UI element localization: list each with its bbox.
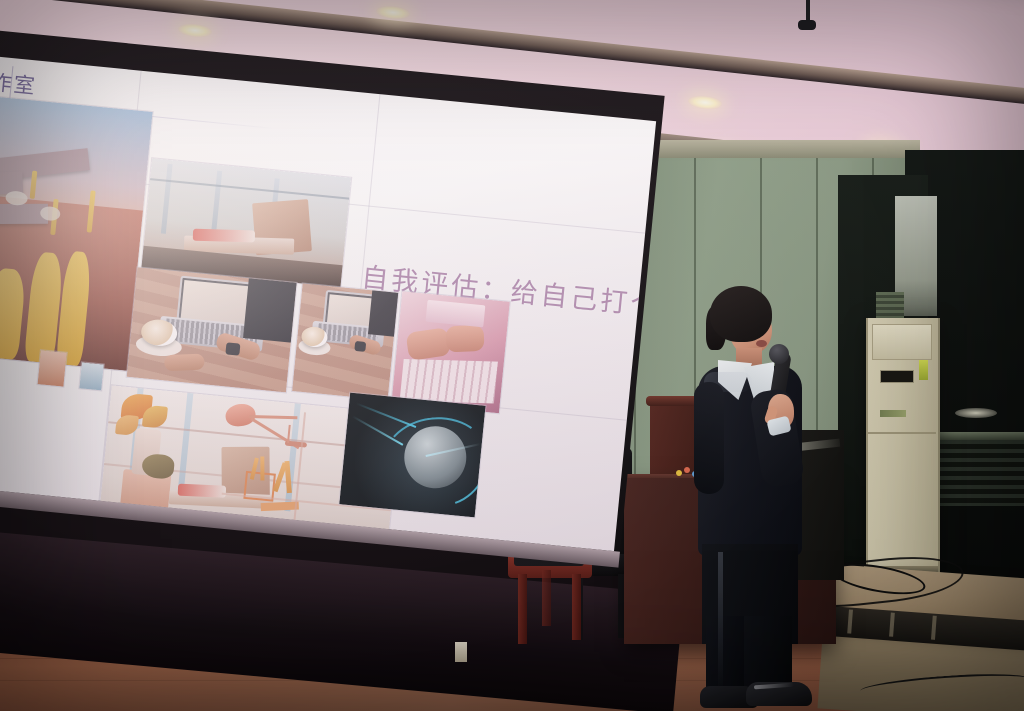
- presenter: [682, 286, 812, 711]
- presenter-trouser-highlight: [718, 552, 723, 692]
- slide-body-text: 内，如果 话，你给 ，它是基: [0, 394, 43, 500]
- wall-cornice: [620, 140, 920, 158]
- projection-screen[interactable]: 化指导工作室 自我评估：给自己打个分 内，如果 话，你给 ，它是基: [0, 27, 665, 634]
- ceiling-projector-mount: [798, 20, 816, 30]
- presenter-arm-left: [694, 382, 724, 494]
- ac-display-panel[interactable]: [880, 370, 914, 383]
- wall-light-reflection: [955, 408, 997, 418]
- photo-laptop-on-deck: [141, 158, 351, 287]
- wall-socket[interactable]: [455, 642, 467, 662]
- ac-brand-logo: [880, 410, 906, 417]
- ac-panel-seam: [866, 432, 936, 434]
- photo-laptop-coffee-1: [127, 267, 297, 392]
- ac-duct: [876, 292, 904, 320]
- radiator-grille: [930, 440, 1024, 506]
- screen-surface[interactable]: 化指导工作室 自我评估：给自己打个分 内，如果 话，你给 ，它是基: [0, 53, 656, 551]
- presenter-mouth: [756, 340, 767, 347]
- presenter-hair: [710, 286, 772, 342]
- photo-thumbnail: [79, 362, 103, 390]
- photo-laptop-coffee-2: [292, 283, 398, 400]
- photo-globe-network: [339, 393, 485, 518]
- slide-body-line: 内，如果: [0, 394, 43, 440]
- photo-hands-on-keyboard: [391, 291, 509, 413]
- radiator-top: [928, 432, 1024, 440]
- photo-scene: 化指导工作室 自我评估：给自己打个分 内，如果 话，你给 ，它是基: [0, 0, 1024, 711]
- photo-thumbnail: [38, 350, 67, 386]
- ac-energy-label: [919, 360, 928, 380]
- ac-air-grille: [872, 324, 932, 360]
- photo-graduation-caps: [0, 93, 153, 371]
